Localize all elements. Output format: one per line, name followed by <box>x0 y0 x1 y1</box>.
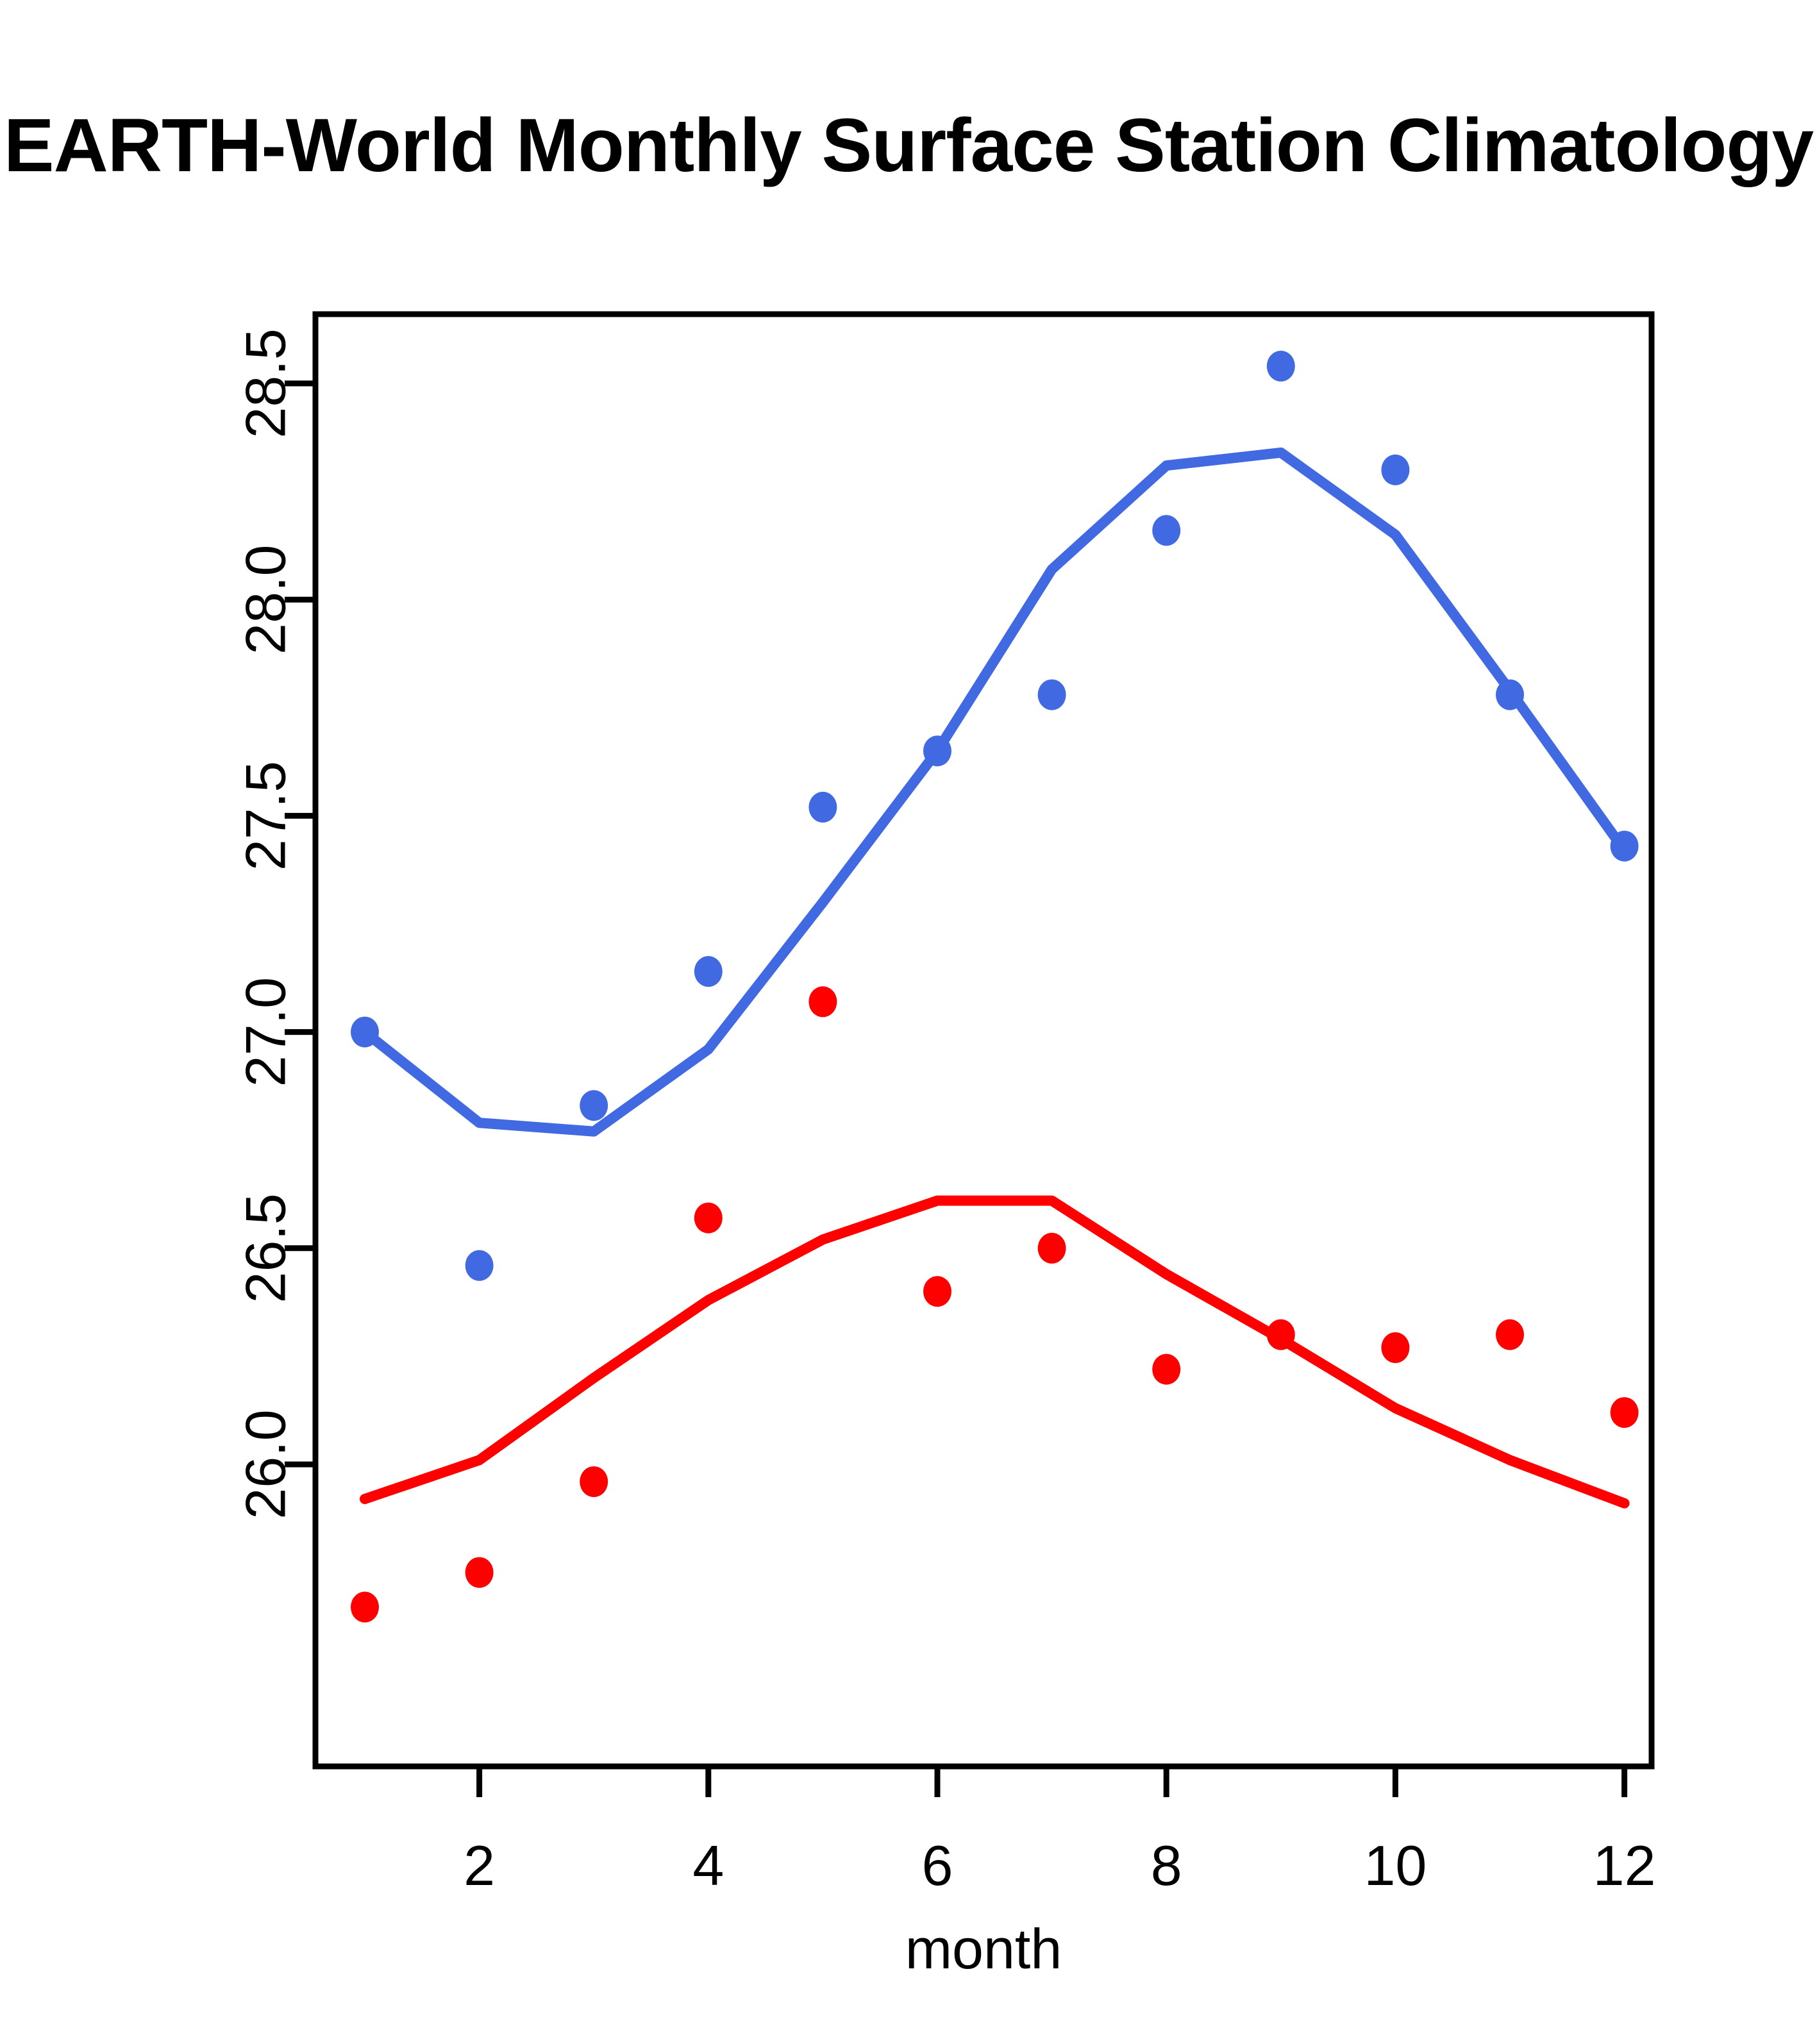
data-point <box>808 986 837 1017</box>
data-point <box>465 1557 494 1588</box>
x-tick-label: 4 <box>692 1834 724 1897</box>
data-point <box>1611 1397 1639 1428</box>
data-point <box>1267 351 1295 381</box>
red-trend-line <box>365 1201 1625 1504</box>
data-point <box>351 1592 379 1623</box>
data-point <box>351 1017 379 1048</box>
x-tick-label: 12 <box>1593 1834 1656 1897</box>
y-axis-tick-labels: 26.026.527.027.528.028.5 <box>234 328 297 1519</box>
x-axis-title: month <box>905 1917 1062 1981</box>
x-axis-tick-labels: 24681012 <box>464 1834 1655 1897</box>
data-point <box>694 956 723 987</box>
blue-data-points <box>351 351 1639 1281</box>
data-point <box>694 1203 723 1234</box>
chart-page: EARTH-World Monthly Surface Station Clim… <box>0 0 1817 2044</box>
x-axis-ticks <box>480 1766 1625 1797</box>
data-point <box>923 735 951 766</box>
data-point <box>580 1466 608 1497</box>
blue-trend-line <box>365 453 1625 1132</box>
climatology-line-chart: 26.026.527.027.528.028.5 24681012 month <box>0 0 1817 2044</box>
y-tick-label: 28.5 <box>234 328 297 438</box>
plot-border <box>315 314 1652 1766</box>
data-point <box>1267 1319 1295 1350</box>
red-data-points <box>351 986 1639 1622</box>
data-point <box>1152 515 1180 546</box>
x-tick-label: 2 <box>464 1834 495 1897</box>
blue-line <box>365 453 1625 1132</box>
data-point <box>1038 1233 1066 1264</box>
y-tick-label: 26.0 <box>234 1409 297 1519</box>
data-point <box>580 1090 608 1121</box>
y-tick-label: 27.0 <box>234 977 297 1087</box>
plot-frame <box>315 314 1652 1766</box>
x-tick-label: 10 <box>1364 1834 1427 1897</box>
data-point <box>1038 680 1066 710</box>
y-tick-label: 26.5 <box>234 1193 297 1303</box>
data-point <box>1496 680 1524 710</box>
data-point <box>923 1276 951 1307</box>
x-tick-label: 8 <box>1151 1834 1182 1897</box>
data-point <box>1381 455 1409 485</box>
data-point <box>1152 1354 1180 1385</box>
data-point <box>1496 1319 1524 1350</box>
red-line <box>365 1201 1625 1504</box>
y-tick-label: 27.5 <box>234 761 297 871</box>
y-tick-label: 28.0 <box>234 545 297 655</box>
data-point <box>1381 1332 1409 1363</box>
data-point <box>465 1250 494 1281</box>
data-point <box>1611 831 1639 862</box>
data-point <box>808 792 837 823</box>
x-tick-label: 6 <box>922 1834 953 1897</box>
